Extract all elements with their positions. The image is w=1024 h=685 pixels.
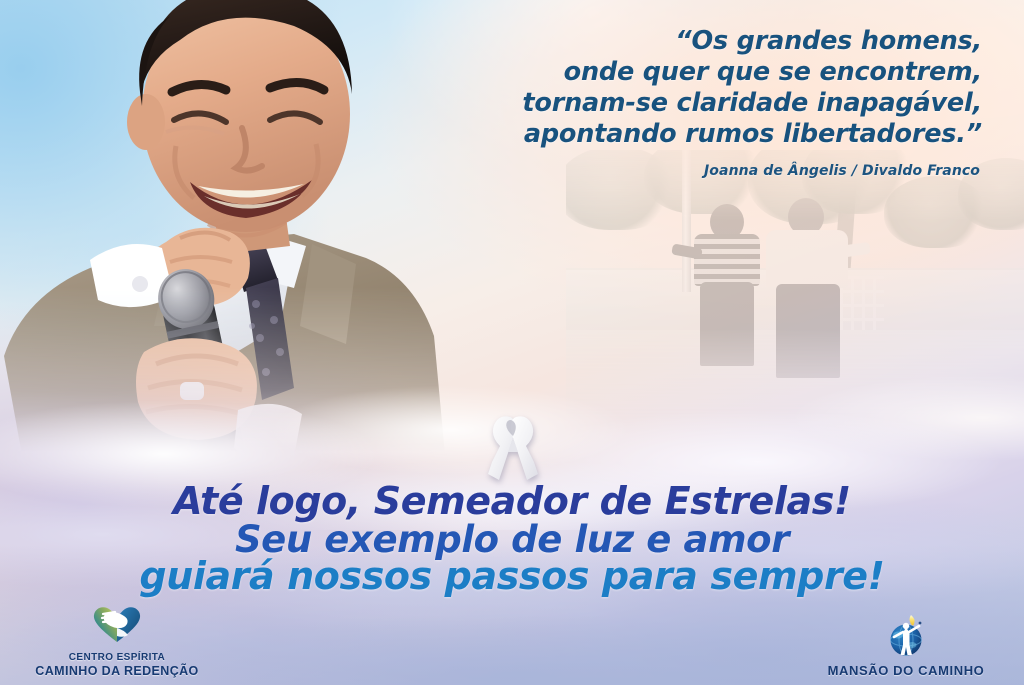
logo-centro-espirita-caminho-da-redencao[interactable]: CENTRO ESPÍRITA CAMINHO DA REDENÇÃO bbox=[22, 604, 212, 677]
logo-right-text: MANSÃO DO CAMINHO bbox=[828, 665, 985, 678]
memorial-poster: “Os grandes homens, onde quer que se enc… bbox=[0, 0, 1024, 685]
headline-block: Até logo, Semeador de Estrelas! Seu exem… bbox=[0, 483, 1024, 596]
logo-left-line-1: CENTRO ESPÍRITA bbox=[35, 652, 198, 665]
logo-left-text: CENTRO ESPÍRITA CAMINHO DA REDENÇÃO bbox=[35, 652, 198, 677]
logo-left-line-2: CAMINHO DA REDENÇÃO bbox=[35, 665, 198, 678]
quote-line-1: “Os grandes homens, bbox=[422, 26, 982, 57]
quote-block: “Os grandes homens, onde quer que se enc… bbox=[422, 26, 982, 179]
white-ribbon-icon bbox=[486, 412, 540, 484]
headline-line-1: Até logo, Semeador de Estrelas! bbox=[0, 483, 1024, 521]
quote-attribution: Joanna de Ângelis / Divaldo Franco bbox=[422, 163, 980, 179]
quote-line-3: tornam-se claridade inapagável, bbox=[422, 88, 982, 119]
globe-with-figure-and-flame-icon bbox=[881, 615, 931, 662]
heart-with-hand-icon bbox=[91, 604, 143, 649]
headline-line-2: Seu exemplo de luz e amor bbox=[0, 521, 1024, 559]
quote-line-2: onde quer que se encontrem, bbox=[422, 57, 982, 88]
headline-line-3: guiará nossos passos para sempre! bbox=[0, 558, 1024, 596]
logo-mansao-do-caminho[interactable]: MANSÃO DO CAMINHO bbox=[806, 615, 1006, 678]
quote-line-4: apontando rumos libertadores.” bbox=[422, 119, 982, 150]
logo-right-name: MANSÃO DO CAMINHO bbox=[828, 665, 985, 678]
